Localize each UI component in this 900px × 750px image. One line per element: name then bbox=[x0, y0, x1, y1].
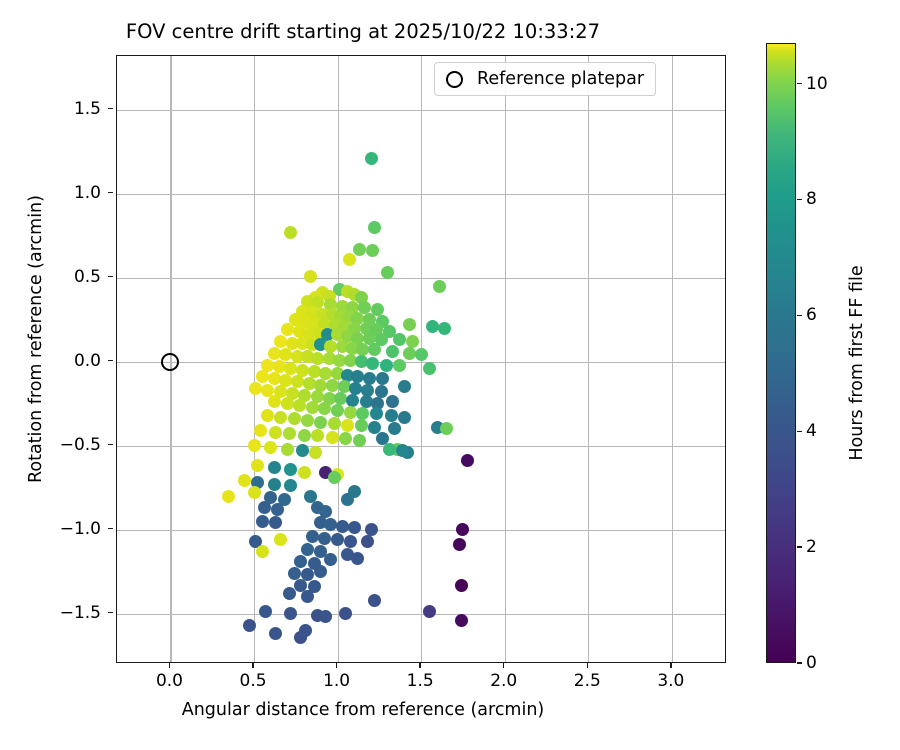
scatter-point bbox=[256, 515, 269, 528]
scatter-point bbox=[294, 555, 307, 568]
scatter-point bbox=[341, 419, 354, 432]
y-axis-label: Rotation from reference (arcmin) bbox=[26, 59, 46, 619]
scatter-point bbox=[256, 545, 269, 558]
scatter-point bbox=[284, 479, 297, 492]
scatter-point bbox=[363, 372, 376, 385]
scatter-point bbox=[251, 459, 264, 472]
scatter-point bbox=[403, 347, 416, 360]
scatter-point bbox=[388, 422, 401, 435]
x-tick-2 bbox=[336, 663, 337, 668]
scatter-point bbox=[355, 419, 368, 432]
scatter-point bbox=[344, 535, 357, 548]
scatter-point bbox=[366, 357, 379, 370]
scatter-point bbox=[319, 610, 332, 623]
scatter-point bbox=[361, 535, 374, 548]
scatter-point bbox=[328, 417, 341, 430]
scatter-point bbox=[258, 501, 271, 514]
scatter-point bbox=[328, 471, 341, 484]
scatter-point bbox=[318, 402, 331, 415]
reference-platepar-marker-icon bbox=[446, 71, 463, 88]
scatter-point bbox=[383, 443, 396, 456]
colorbar-label: Hours from first FF file bbox=[847, 83, 867, 643]
scatter-point bbox=[370, 407, 383, 420]
scatter-point bbox=[301, 543, 314, 556]
scatter-point bbox=[293, 399, 306, 412]
scatter-point bbox=[281, 443, 294, 456]
scatter-point bbox=[365, 152, 378, 165]
scatter-point bbox=[455, 579, 468, 592]
scatter-point bbox=[222, 490, 235, 503]
colorbar-tick-label-2: 4 bbox=[806, 421, 817, 441]
x-tick-1 bbox=[252, 663, 253, 668]
scatter-point bbox=[243, 619, 256, 632]
scatter-point bbox=[306, 530, 319, 543]
scatter-point bbox=[299, 624, 312, 637]
x-tick-label-4: 2.0 bbox=[490, 671, 517, 691]
scatter-point bbox=[346, 394, 359, 407]
scatter-point bbox=[455, 614, 468, 627]
colorbar-tick-1 bbox=[797, 546, 802, 547]
scatter-point bbox=[423, 605, 436, 618]
colorbar-tick-label-1: 2 bbox=[806, 537, 817, 557]
scatter-point bbox=[281, 323, 294, 336]
colorbar-tick-label-0: 0 bbox=[806, 653, 817, 673]
scatter-point bbox=[254, 424, 267, 437]
scatter-point bbox=[380, 359, 393, 372]
scatter-point bbox=[415, 348, 428, 361]
y-tick-0 bbox=[108, 612, 113, 613]
reference-platepar-point bbox=[161, 353, 179, 371]
scatter-point bbox=[314, 416, 327, 429]
y-tick-label-1: −1.0 bbox=[60, 519, 101, 539]
x-tick-label-0: 0.0 bbox=[156, 671, 183, 691]
scatter-point bbox=[456, 523, 469, 536]
x-tick-label-5: 2.5 bbox=[574, 671, 601, 691]
legend-entry-label: Reference platepar bbox=[477, 69, 644, 89]
scatter-point bbox=[398, 411, 411, 424]
scatter-point bbox=[309, 446, 322, 459]
colorbar-tick-5 bbox=[797, 83, 802, 84]
scatter-point bbox=[268, 395, 281, 408]
legend[interactable]: Reference platepar bbox=[434, 62, 656, 96]
scatter-point bbox=[281, 397, 294, 410]
y-tick-label-6: 1.5 bbox=[74, 99, 101, 119]
scatter-point bbox=[438, 322, 451, 335]
scatter-point bbox=[351, 552, 364, 565]
scatter-point bbox=[368, 221, 381, 234]
scatter-point bbox=[268, 461, 281, 474]
scatter-point bbox=[353, 243, 366, 256]
x-tick-5 bbox=[587, 663, 588, 668]
scatter-point bbox=[398, 380, 411, 393]
colorbar-tick-0 bbox=[797, 662, 802, 663]
y-tick-label-0: −1.5 bbox=[60, 603, 101, 623]
scatter-point bbox=[284, 226, 297, 239]
x-tick-6 bbox=[670, 663, 671, 668]
figure-canvas: FOV centre drift starting at 2025/10/22 … bbox=[0, 0, 900, 750]
scatter-point bbox=[339, 607, 352, 620]
scatter-point bbox=[284, 607, 297, 620]
scatter-point bbox=[288, 567, 301, 580]
y-tick-6 bbox=[108, 108, 113, 109]
scatter-point bbox=[376, 372, 389, 385]
scatter-point bbox=[348, 521, 361, 534]
y-tick-label-2: −0.5 bbox=[60, 435, 101, 455]
scatter-point bbox=[301, 590, 314, 603]
scatter-point bbox=[453, 538, 466, 551]
scatter-point bbox=[283, 427, 296, 440]
scatter-point bbox=[304, 270, 317, 283]
scatter-point bbox=[393, 359, 406, 372]
y-tick-1 bbox=[108, 528, 113, 529]
scatter-point bbox=[393, 333, 406, 346]
x-tick-label-6: 3.0 bbox=[657, 671, 684, 691]
y-tick-label-4: 0.5 bbox=[74, 267, 101, 287]
scatter-point bbox=[461, 454, 474, 467]
scatter-point bbox=[318, 532, 331, 545]
scatter-point bbox=[368, 343, 381, 356]
scatter-point bbox=[284, 463, 297, 476]
scatter-point bbox=[403, 318, 416, 331]
x-tick-label-1: 0.5 bbox=[240, 671, 267, 691]
scatter-point bbox=[314, 565, 327, 578]
x-tick-4 bbox=[503, 663, 504, 668]
y-tick-5 bbox=[108, 192, 113, 193]
scatter-point bbox=[368, 594, 381, 607]
colorbar-tick-label-4: 8 bbox=[806, 189, 817, 209]
scatter-point bbox=[440, 422, 453, 435]
scatter-point bbox=[256, 370, 269, 383]
y-tick-label-5: 1.0 bbox=[74, 183, 101, 203]
x-axis-label: Angular distance from reference (arcmin) bbox=[0, 700, 726, 720]
scatter-point bbox=[283, 587, 296, 600]
scatter-point bbox=[324, 553, 337, 566]
scatter-point bbox=[274, 533, 287, 546]
scatter-point bbox=[311, 429, 324, 442]
y-tick-4 bbox=[108, 276, 113, 277]
colorbar-tick-label-3: 6 bbox=[806, 305, 817, 325]
x-tick-0 bbox=[169, 663, 170, 668]
colorbar-tick-2 bbox=[797, 431, 802, 432]
scatter-point bbox=[268, 478, 281, 491]
y-tick-3 bbox=[108, 360, 113, 361]
scatter-point bbox=[433, 280, 446, 293]
scatter-point bbox=[381, 266, 394, 279]
scatter-point bbox=[264, 441, 277, 454]
scatter-point bbox=[298, 429, 311, 442]
colorbar bbox=[766, 43, 796, 663]
scatter-point bbox=[301, 414, 314, 427]
x-tick-label-3: 1.5 bbox=[407, 671, 434, 691]
scatter-points-layer bbox=[117, 56, 725, 662]
plot-axes bbox=[116, 55, 726, 663]
y-tick-label-3: 0.0 bbox=[74, 351, 101, 371]
scatter-point bbox=[269, 627, 282, 640]
scatter-point bbox=[261, 409, 274, 422]
scatter-point bbox=[259, 605, 272, 618]
x-tick-label-2: 1.0 bbox=[323, 671, 350, 691]
scatter-point bbox=[385, 409, 398, 422]
scatter-point bbox=[326, 431, 339, 444]
scatter-point bbox=[271, 503, 284, 516]
y-tick-2 bbox=[108, 444, 113, 445]
scatter-point bbox=[366, 244, 379, 257]
scatter-point bbox=[288, 412, 301, 425]
scatter-point bbox=[423, 362, 436, 375]
scatter-point bbox=[274, 411, 287, 424]
colorbar-tick-label-5: 10 bbox=[806, 74, 828, 94]
scatter-point bbox=[269, 426, 282, 439]
scatter-point bbox=[348, 485, 361, 498]
colorbar-tick-3 bbox=[797, 315, 802, 316]
x-tick-3 bbox=[419, 663, 420, 668]
scatter-point bbox=[386, 395, 399, 408]
scatter-point bbox=[331, 404, 344, 417]
scatter-point bbox=[339, 432, 352, 445]
scatter-point bbox=[331, 533, 344, 546]
scatter-point bbox=[238, 474, 251, 487]
scatter-point bbox=[386, 345, 399, 358]
colorbar-tick-4 bbox=[797, 199, 802, 200]
scatter-point bbox=[296, 444, 309, 457]
scatter-point bbox=[248, 486, 261, 499]
scatter-point bbox=[269, 516, 282, 529]
scatter-point bbox=[298, 466, 311, 479]
chart-title: FOV centre drift starting at 2025/10/22 … bbox=[0, 20, 726, 43]
scatter-point bbox=[343, 253, 356, 266]
scatter-point bbox=[353, 434, 366, 447]
scatter-point bbox=[248, 439, 261, 452]
